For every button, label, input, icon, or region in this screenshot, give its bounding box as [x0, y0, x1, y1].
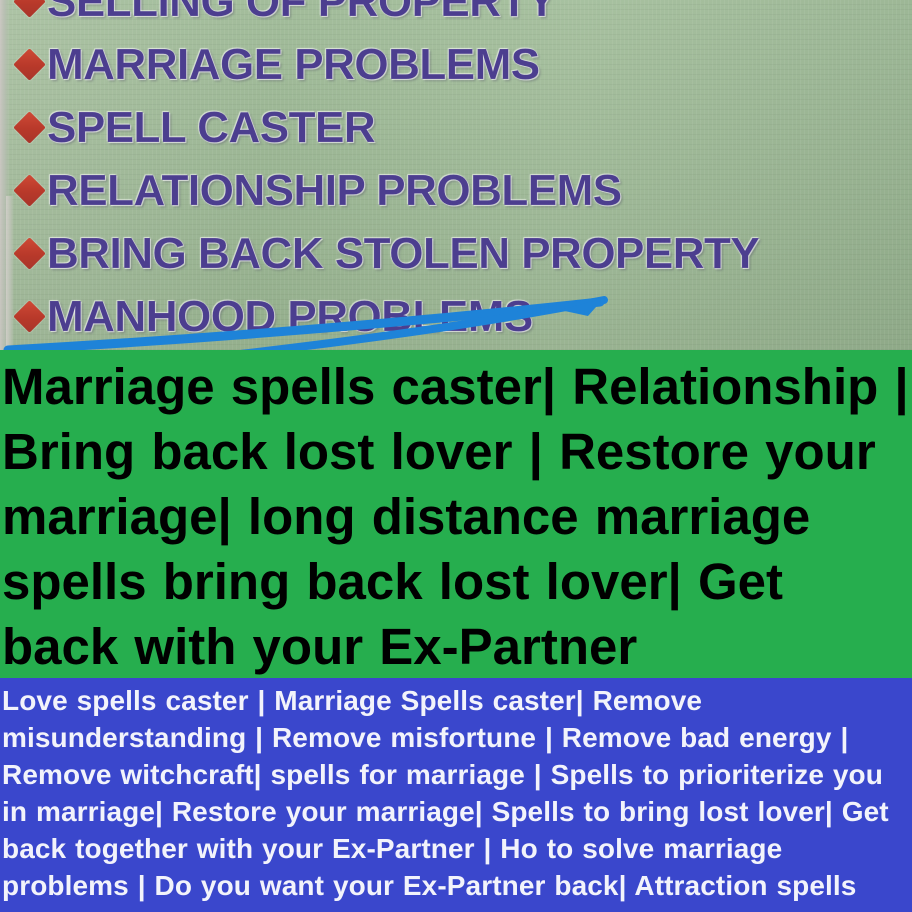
banner-service-list: SELLING OF PROPERTY MARRIAGE PROBLEMS SP… [0, 0, 912, 348]
blue-services-section: Love spells caster | Marriage Spells cas… [0, 678, 912, 912]
green-headline-section: Marriage spells caster| Relationship | B… [0, 350, 912, 678]
red-diamond-icon [13, 111, 46, 144]
banner-photograph: SELLING OF PROPERTY MARRIAGE PROBLEMS SP… [0, 0, 912, 350]
banner-list-item: BRING BACK STOLEN PROPERTY [0, 222, 912, 285]
red-diamond-icon [13, 174, 46, 207]
headline-text: Marriage spells caster| Relationship | B… [2, 354, 910, 678]
red-diamond-icon [13, 300, 46, 333]
red-diamond-icon [13, 0, 46, 18]
banner-list-item: SELLING OF PROPERTY [0, 0, 912, 33]
banner-list-item: MANHOOD PROBLEMS [0, 285, 912, 348]
banner-list-item: RELATIONSHIP PROBLEMS [0, 159, 912, 222]
banner-item-label: SELLING OF PROPERTY [47, 0, 556, 24]
banner-list-item: SPELL CASTER [0, 96, 912, 159]
red-diamond-icon [13, 48, 46, 81]
banner-item-label: RELATIONSHIP PROBLEMS [47, 169, 622, 213]
banner-item-label: MANHOOD PROBLEMS [47, 295, 533, 339]
advert-page: SELLING OF PROPERTY MARRIAGE PROBLEMS SP… [0, 0, 912, 912]
red-diamond-icon [13, 237, 46, 270]
services-text: Love spells caster | Marriage Spells cas… [2, 682, 910, 912]
banner-list-item: MARRIAGE PROBLEMS [0, 33, 912, 96]
banner-item-label: SPELL CASTER [47, 106, 375, 150]
banner-item-label: BRING BACK STOLEN PROPERTY [47, 232, 759, 276]
banner-item-label: MARRIAGE PROBLEMS [47, 43, 540, 87]
